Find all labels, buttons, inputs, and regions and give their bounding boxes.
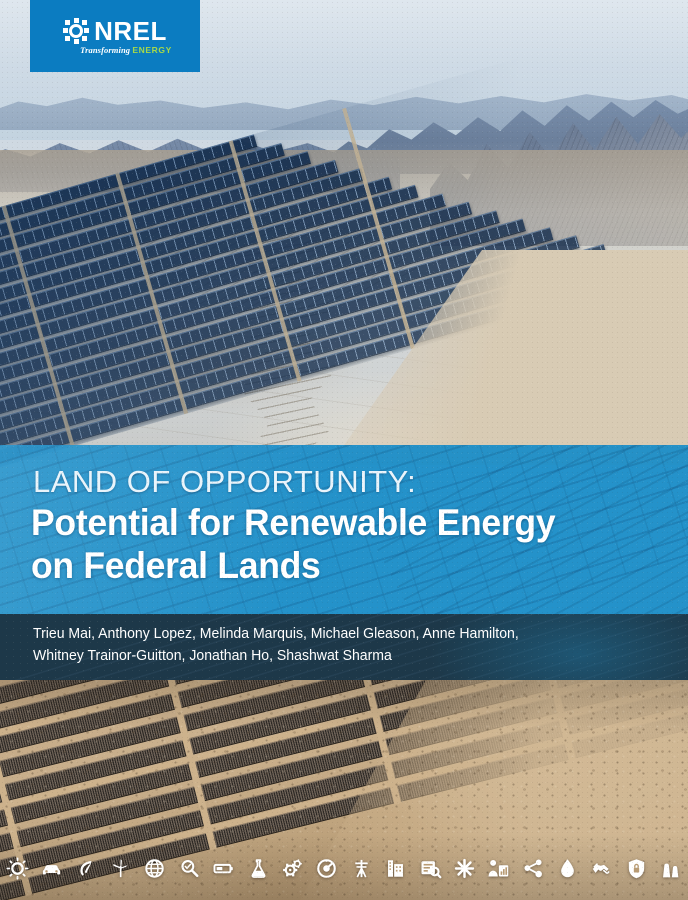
flask-icon [247,857,270,880]
nrel-logo: NREL Transforming ENERGY [30,0,200,72]
globe-icon [143,857,166,880]
report-cover: NREL Transforming ENERGY LAND OF OPPORTU… [0,0,688,900]
icon-cell [34,836,68,900]
gears-icon [281,857,304,880]
icon-cell [378,836,412,900]
nrel-dot-ring-icon [63,18,89,44]
cover-photo-bottom [0,680,688,900]
battery-icon [212,857,235,880]
page-title-line-2: on Federal Lands [31,544,555,587]
icon-cell [551,836,585,900]
title-band: LAND OF OPPORTUNITY: Potential for Renew… [0,445,688,614]
icon-strip [0,836,688,900]
page-title-line-1: Potential for Renewable Energy [31,501,555,544]
lock-shield-icon [625,857,648,880]
water-drop-icon [556,857,579,880]
asterisk-icon [453,857,476,880]
document-search-icon [419,857,442,880]
icon-cell [447,836,481,900]
page-title: Potential for Renewable Energy on Federa… [31,501,555,587]
tagline-transforming: Transforming [80,45,132,55]
person-data-icon [487,857,510,880]
leaf-icon [75,857,98,880]
power-plant-icon [659,857,682,880]
author-line-1: Trieu Mai, Anthony Lopez, Melinda Marqui… [33,624,634,646]
title-kicker: LAND OF OPPORTUNITY: [33,464,416,500]
icon-cell [275,836,309,900]
wind-turbine-icon [109,857,132,880]
car-icon [40,857,63,880]
icon-cell [482,836,516,900]
transmission-tower-icon [350,857,373,880]
author-line-2: Whitney Trainor-Guitton, Jonathan Ho, Sh… [33,646,634,668]
icon-cell [0,836,34,900]
magnifier-icon [178,857,201,880]
author-list: Trieu Mai, Anthony Lopez, Melinda Marqui… [33,624,634,667]
nrel-tagline: Transforming ENERGY [80,45,172,55]
icon-cell [619,836,653,900]
icon-cell [654,836,688,900]
dial-gauge-icon [315,857,338,880]
icon-cell [516,836,550,900]
icon-cell [344,836,378,900]
handshake-icon [591,857,614,880]
icon-cell [413,836,447,900]
tagline-energy: ENERGY [132,45,172,55]
icon-cell [310,836,344,900]
sun-icon [6,857,29,880]
icon-cell [172,836,206,900]
icon-cell [241,836,275,900]
icon-cell [206,836,240,900]
building-icon [384,857,407,880]
icon-cell [585,836,619,900]
author-band: Trieu Mai, Anthony Lopez, Melinda Marqui… [0,614,688,680]
network-share-icon [522,857,545,880]
nrel-wordmark: NREL [94,18,167,44]
icon-cell [103,836,137,900]
icon-cell [69,836,103,900]
icon-cell [138,836,172,900]
